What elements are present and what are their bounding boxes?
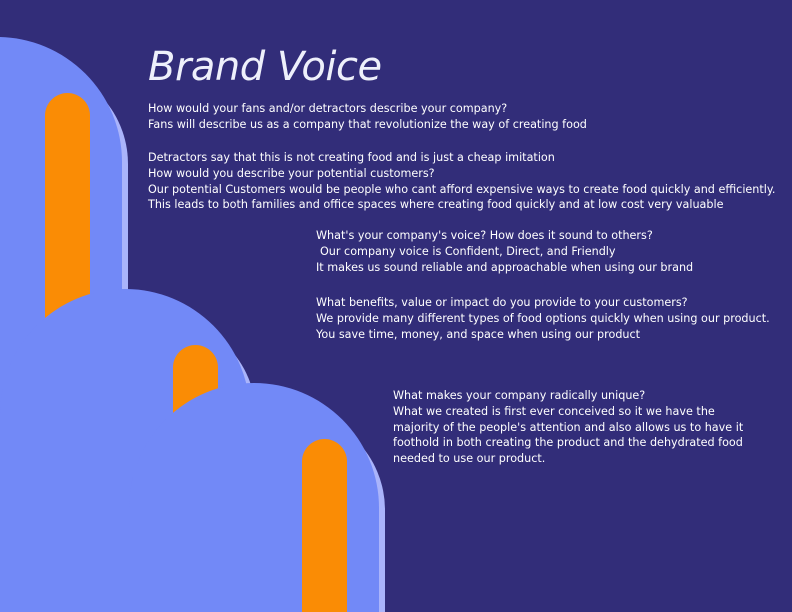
text-line: You save time, money, and space when usi… xyxy=(316,327,770,343)
text-block-benefits-value-impact: What benefits, value or impact do you pr… xyxy=(316,295,770,342)
text-line: Our company voice is Confident, Direct, … xyxy=(316,244,693,260)
text-line: Detractors say that this is not creating… xyxy=(148,150,775,166)
text-line: Our potential Customers would be people … xyxy=(148,182,775,198)
brand-voice-slide: Brand Voice How would your fans and/or d… xyxy=(0,0,792,612)
text-line: It makes us sound reliable and approacha… xyxy=(316,260,693,276)
text-block-company-voice: What's your company's voice? How does it… xyxy=(316,228,693,275)
text-line: We provide many different types of food … xyxy=(316,311,770,327)
text-line: What benefits, value or impact do you pr… xyxy=(316,295,770,311)
text-line: What makes your company radically unique… xyxy=(393,388,753,404)
text-paragraph: What we created is first ever conceived … xyxy=(393,405,743,465)
text-line: What's your company's voice? How does it… xyxy=(316,228,693,244)
slide-content: Brand Voice How would your fans and/or d… xyxy=(0,0,792,612)
text-line: How would you describe your potential cu… xyxy=(148,166,775,182)
text-line: How would your fans and/or detractors de… xyxy=(148,101,587,117)
text-block-fans-detractors: How would your fans and/or detractors de… xyxy=(148,101,587,133)
text-line: Fans will describe us as a company that … xyxy=(148,117,587,133)
text-block-radically-unique: What makes your company radically unique… xyxy=(393,388,753,467)
text-block-potential-customers: Detractors say that this is not creating… xyxy=(148,150,775,213)
text-line: This leads to both families and office s… xyxy=(148,197,775,213)
page-title: Brand Voice xyxy=(148,44,382,90)
